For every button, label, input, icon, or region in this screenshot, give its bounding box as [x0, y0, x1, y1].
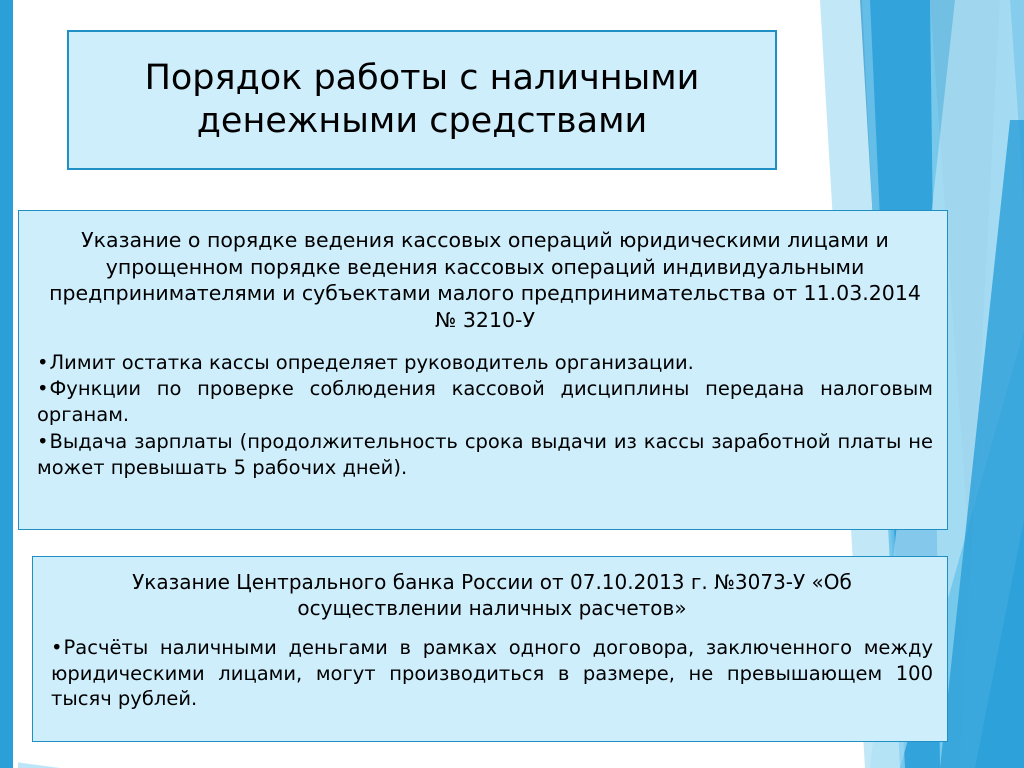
- content-block-2: Указание Центрального банка России от 07…: [32, 556, 948, 742]
- block-1-bullets: Лимит остатка кассы определяет руководит…: [37, 350, 933, 481]
- list-item: Функции по проверке соблюдения кассовой …: [37, 376, 933, 427]
- list-item: Расчёты наличными деньгами в рамках одно…: [51, 635, 933, 712]
- slide-title-box: Порядок работы с наличными денежными сре…: [67, 30, 777, 170]
- slide: Порядок работы с наличными денежными сре…: [0, 0, 1024, 768]
- block-1-heading: Указание о порядке ведения кассовых опер…: [37, 227, 933, 334]
- list-item: Выдача зарплаты (продолжительность срока…: [37, 429, 933, 480]
- content-block-1: Указание о порядке ведения кассовых опер…: [18, 210, 948, 530]
- slide-title: Порядок работы с наличными денежными сре…: [87, 57, 757, 142]
- list-item: Лимит остатка кассы определяет руководит…: [37, 350, 933, 376]
- block-2-heading: Указание Центрального банка России от 07…: [51, 569, 933, 621]
- left-accent-bar: [0, 0, 13, 768]
- block-2-bullets: Расчёты наличными деньгами в рамках одно…: [51, 635, 933, 712]
